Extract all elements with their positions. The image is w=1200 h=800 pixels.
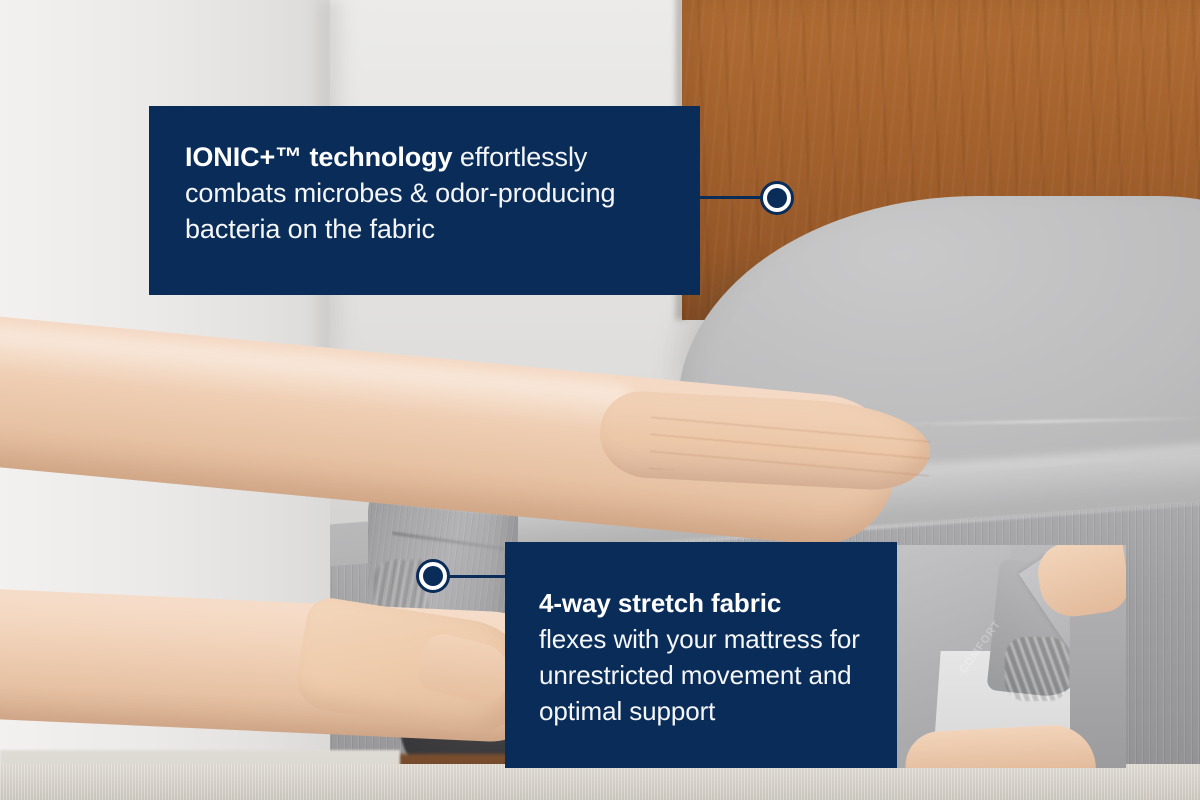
callout-panel-ionic: IONIC+™ technology effortlessly combats … — [149, 106, 700, 295]
callout-body-stretch: flexes with your mattress for unrestrict… — [539, 624, 860, 726]
feature-dot-marker-ionic[interactable] — [760, 181, 794, 215]
callout-lead-ionic: IONIC+™ technology — [185, 142, 452, 172]
callout-panel-stretch: 4-way stretch fabricflexes with your mat… — [505, 542, 897, 768]
callout-text-ionic: IONIC+™ technology effortlessly combats … — [185, 140, 664, 248]
callout-lead-stretch: 4-way stretch fabric — [539, 588, 781, 618]
model-hand-upper-fingers — [649, 415, 931, 479]
leader-line-ionic — [700, 196, 762, 199]
inset-photo-stretch-demo: COMFORT — [897, 545, 1126, 768]
inset-sheet-gather — [1005, 637, 1069, 701]
leader-line-stretch — [447, 575, 507, 578]
floor-strip — [0, 764, 1200, 800]
feature-dot-marker-stretch[interactable] — [416, 559, 450, 593]
callout-text-stretch: 4-way stretch fabricflexes with your mat… — [539, 586, 897, 730]
product-feature-image: IONIC+™ technology effortlessly combats … — [0, 0, 1200, 800]
